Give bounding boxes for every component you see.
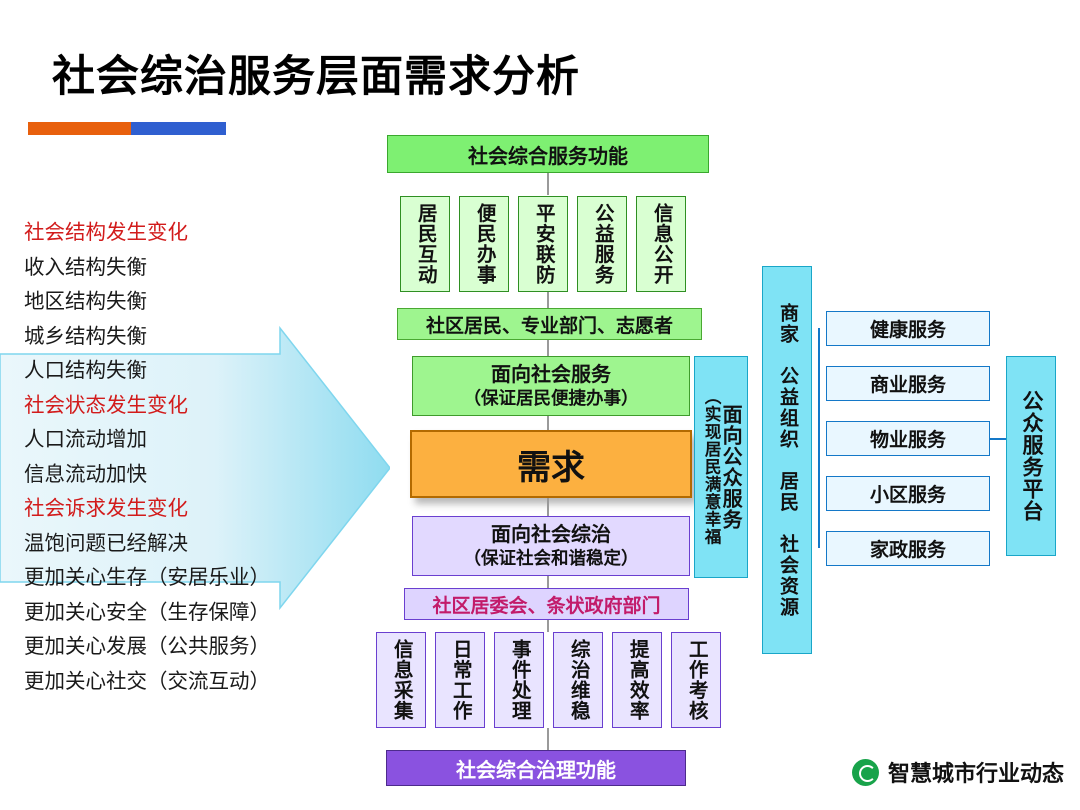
list-item: 社会状态发生变化 [24, 389, 324, 424]
list-item: 信息流动加快 [24, 458, 324, 493]
social-governance-function-header: 社会综合治理功能 [386, 750, 686, 786]
page-title: 社会综治服务层面需求分析 [52, 42, 580, 104]
list-item: 收入结构失衡 [24, 251, 324, 286]
connector-top [547, 173, 549, 195]
right-service-item: 健康服务 [826, 311, 990, 346]
rule-segment-blue [131, 122, 226, 135]
list-item: 温饱问题已经解决 [24, 527, 324, 562]
brand-name: 智慧城市行业动态 [888, 756, 1064, 788]
connector-service-demand [547, 416, 549, 430]
demand-box: 需求 [410, 430, 692, 498]
governance-cell: 日常工作 [435, 632, 485, 728]
block-subtitle: （保证居民便捷办事） [464, 388, 639, 410]
governance-actors-bar: 社区居委会、条状政府部门 [404, 588, 689, 620]
list-item: 社会诉求发生变化 [24, 492, 324, 527]
oriented-social-governance-block: 面向社会综治 （保证社会和谐稳定） [412, 516, 690, 576]
right-service-item: 物业服务 [826, 421, 990, 456]
resources-column: 商家 公益组织 居民 社会资源 [762, 266, 812, 654]
service-actors-bar: 社区居民、专业部门、志愿者 [397, 308, 702, 340]
governance-cell: 事件处理 [494, 632, 544, 728]
oriented-social-service-block: 面向社会服务 （保证居民便捷办事） [412, 356, 690, 416]
wechat-logo-icon [852, 759, 879, 786]
public-service-note: （实现居民满意幸福 [702, 388, 719, 546]
block-title: 面向社会服务 [491, 363, 611, 388]
social-service-function-header: 社会综合服务功能 [387, 135, 709, 173]
list-item: 更加关心发展（公共服务） [24, 630, 324, 665]
list-item: 地区结构失衡 [24, 285, 324, 320]
connector-govern-actors [547, 576, 549, 588]
list-item: 更加关心安全（生存保障） [24, 596, 324, 631]
service-cell: 公益服务 [577, 196, 627, 292]
governance-cell: 提高效率 [612, 632, 662, 728]
block-title: 面向社会综治 [491, 523, 611, 548]
connector-actors-service [547, 340, 549, 356]
public-service-platform-column: 公众服务平台 [1006, 356, 1056, 556]
title-rule [28, 122, 226, 135]
right-service-item: 小区服务 [826, 476, 990, 511]
list-item: 城乡结构失衡 [24, 320, 324, 355]
brand-footer: 智慧城市行业动态 [852, 756, 1064, 788]
connector-resources-services [818, 328, 820, 548]
list-item: 社会结构发生变化 [24, 216, 324, 251]
governance-cell: 信息采集 [376, 632, 426, 728]
block-subtitle: （保证社会和谐稳定） [464, 548, 639, 570]
right-service-item: 商业服务 [826, 366, 990, 401]
public-service-label: 面向公众服务 [719, 404, 740, 530]
right-service-item: 家政服务 [826, 531, 990, 566]
connector-cells-actors [547, 292, 549, 308]
connector-actors-cells [547, 620, 549, 632]
list-item: 人口流动增加 [24, 423, 324, 458]
connector-cells-bottom [547, 728, 549, 750]
left-factor-list: 社会结构发生变化 收入结构失衡 地区结构失衡 城乡结构失衡 人口结构失衡 社会状… [24, 216, 324, 699]
list-item: 人口结构失衡 [24, 354, 324, 389]
governance-cell: 工作考核 [671, 632, 721, 728]
service-cell: 便民办事 [459, 196, 509, 292]
rule-segment-orange [28, 122, 131, 135]
list-item: 更加关心社交（交流互动） [24, 665, 324, 700]
service-cell: 居民互动 [400, 196, 450, 292]
service-cell: 信息公开 [636, 196, 686, 292]
governance-cell: 综治维稳 [553, 632, 603, 728]
list-item: 更加关心生存（安居乐业） [24, 561, 324, 596]
service-cell: 平安联防 [518, 196, 568, 292]
public-service-column: （实现居民满意幸福 面向公众服务 [694, 356, 748, 578]
connector-demand-govern [547, 498, 549, 516]
